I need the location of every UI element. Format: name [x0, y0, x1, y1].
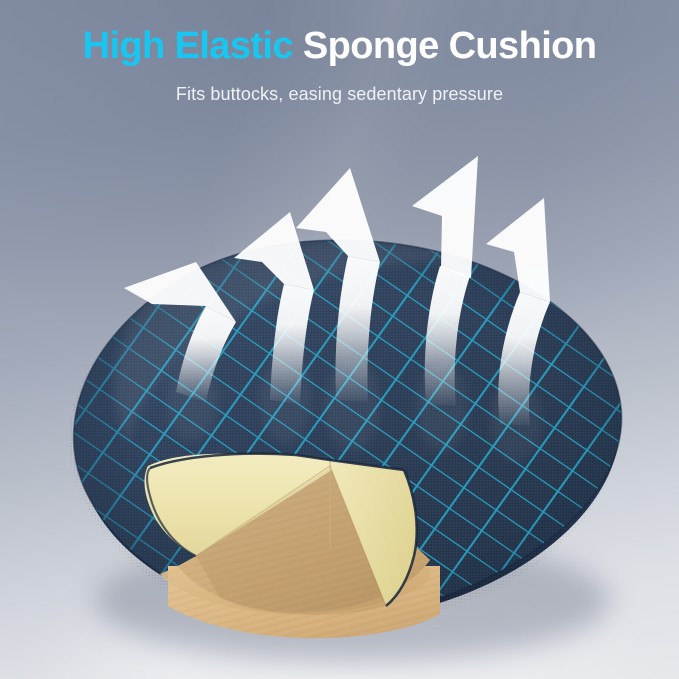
product-feature-banner: High Elastic Sponge Cushion Fits buttock…	[0, 0, 679, 679]
page-title: High Elastic Sponge Cushion	[0, 26, 679, 68]
page-title-accent: High Elastic	[83, 25, 293, 67]
page-title-plain: Sponge Cushion	[303, 25, 596, 67]
page-subtitle: Fits buttocks, easing sedentary pressure	[0, 84, 679, 105]
